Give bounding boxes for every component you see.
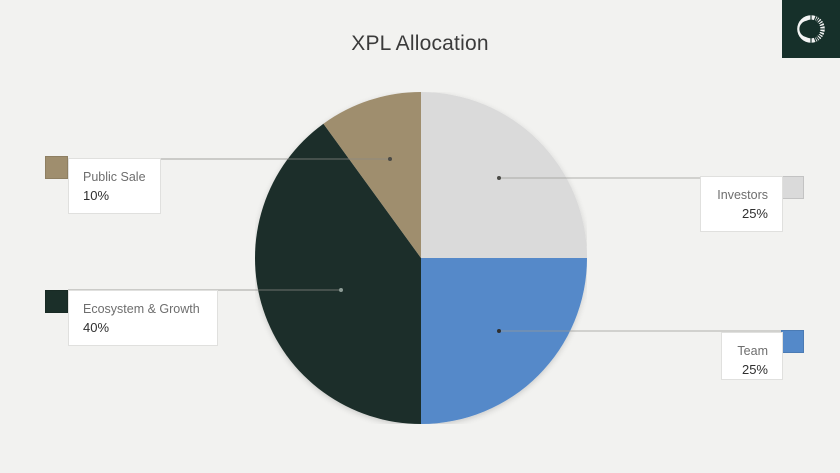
pie-slice-team[interactable] (421, 258, 587, 424)
legend-swatch-team (781, 330, 804, 353)
callout-value-investors: 25% (713, 204, 768, 223)
legend-swatch-ecosystem-growth (45, 290, 68, 313)
slide-canvas: XPL Allocation (0, 0, 840, 473)
pie-slice-investors[interactable] (421, 92, 587, 258)
callout-label-ecosystem-growth: Ecosystem & Growth (83, 301, 205, 318)
callout-team[interactable]: Team 25% (721, 332, 783, 380)
callout-public-sale[interactable]: Public Sale 10% (68, 158, 161, 214)
legend-swatch-investors (781, 176, 804, 199)
callout-label-investors: Investors (713, 187, 768, 204)
callout-label-team: Team (734, 343, 768, 360)
legend-swatch-public-sale (45, 156, 68, 179)
callout-value-ecosystem-growth: 40% (83, 318, 205, 337)
plasma-ring-icon (794, 12, 828, 46)
logo-inner-disc (799, 21, 815, 37)
callout-ecosystem-growth[interactable]: Ecosystem & Growth 40% (68, 290, 218, 346)
callout-value-public-sale: 10% (83, 186, 148, 205)
callout-value-team: 25% (734, 360, 768, 379)
callout-investors[interactable]: Investors 25% (700, 176, 783, 232)
callout-label-public-sale: Public Sale (83, 169, 148, 186)
pie-chart (255, 92, 587, 424)
brand-logo (782, 0, 840, 58)
page-title: XPL Allocation (0, 32, 840, 56)
